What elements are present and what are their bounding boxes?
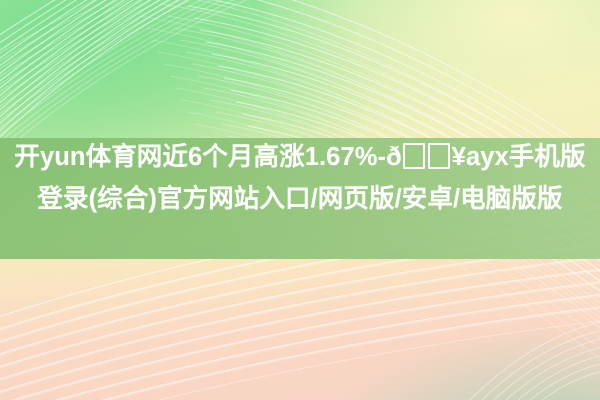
background-tint-bottom-right — [312, 328, 600, 400]
fire-emoji-mojibake-icon-2 — [428, 143, 450, 169]
headline-before-emoji: 开yun体育网近6个月高涨1.67%-ð — [14, 143, 401, 171]
headline-band: 开yun体育网近6个月高涨1.67%-ð¥ayx手机版登录(综合)官方网站入口/… — [0, 138, 600, 259]
promo-banner: 开yun体育网近6个月高涨1.67%-ð¥ayx手机版登录(综合)官方网站入口/… — [0, 0, 600, 400]
fire-emoji-mojibake-icon — [403, 143, 425, 169]
banner-headline: 开yun体育网近6个月高涨1.67%-ð¥ayx手机版登录(综合)官方网站入口/… — [0, 138, 600, 220]
